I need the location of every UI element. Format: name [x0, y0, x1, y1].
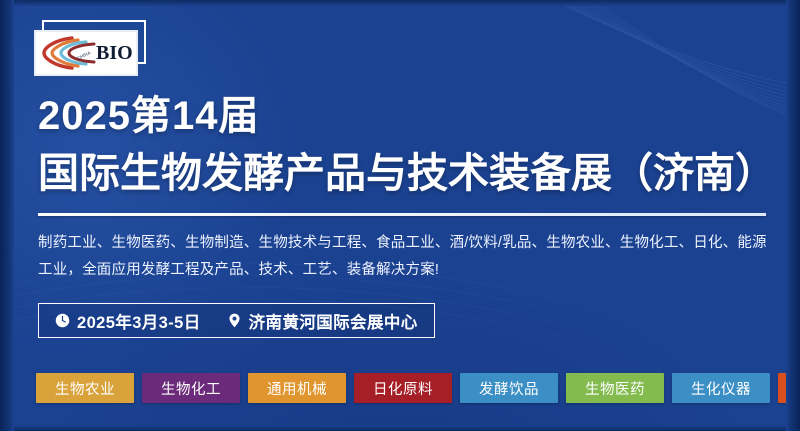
- svg-text:BIO: BIO: [96, 42, 133, 64]
- tag-0[interactable]: 生物农业: [36, 373, 134, 403]
- event-date-label: 2025年3月3-5日: [77, 309, 201, 333]
- bottom-edge-band: [0, 425, 800, 431]
- location-pin-icon: [227, 313, 242, 329]
- category-tag-list: 生物农业 生物化工 通用机械 日化原料 发酵饮品 生物医药 生化仪器 制药机械: [36, 373, 800, 403]
- header-divider: [38, 213, 766, 216]
- exhibition-poster: BIO CHINA 2025第14届 国际生物发酵产品与技术装备展（济南） 制药…: [0, 0, 800, 431]
- tag-label: 生物农业: [55, 378, 115, 399]
- tag-label: 生物化工: [161, 378, 221, 399]
- bio-logo-icon: BIO CHINA: [36, 32, 136, 74]
- event-info-box: 2025年3月3-5日 济南黄河国际会展中心: [38, 303, 435, 338]
- tag-label: 通用机械: [267, 378, 327, 399]
- tag-label: 日化原料: [373, 378, 433, 399]
- tag-5[interactable]: 生物医药: [566, 373, 664, 403]
- event-venue: 济南黄河国际会展中心: [227, 309, 418, 333]
- headline-line2: 国际生物发酵产品与技术装备展（济南）: [38, 150, 776, 196]
- tag-label: 发酵饮品: [479, 378, 539, 399]
- headline-line1: 2025第14届: [38, 94, 259, 138]
- tag-3[interactable]: 日化原料: [354, 373, 452, 403]
- tag-4[interactable]: 发酵饮品: [460, 373, 558, 403]
- clock-icon: [55, 313, 70, 328]
- description-text: 制药工业、生物医药、生物制造、生物技术与工程、食品工业、酒/饮料/乳品、生物农业…: [38, 230, 768, 284]
- logo-subtext: CHINA: [76, 50, 92, 61]
- top-edge-band: [0, 0, 800, 6]
- logo[interactable]: BIO CHINA: [34, 20, 150, 78]
- tag-6[interactable]: 生化仪器: [672, 373, 770, 403]
- tag-label: 生化仪器: [691, 378, 751, 399]
- logo-card: BIO CHINA: [34, 30, 138, 76]
- tag-1[interactable]: 生物化工: [142, 373, 240, 403]
- event-venue-label: 济南黄河国际会展中心: [249, 309, 418, 333]
- left-edge-band: [0, 0, 14, 431]
- tag-label: 生物医药: [585, 378, 645, 399]
- event-date: 2025年3月3-5日: [55, 309, 201, 333]
- tag-2[interactable]: 通用机械: [248, 373, 346, 403]
- right-edge-band: [786, 0, 800, 431]
